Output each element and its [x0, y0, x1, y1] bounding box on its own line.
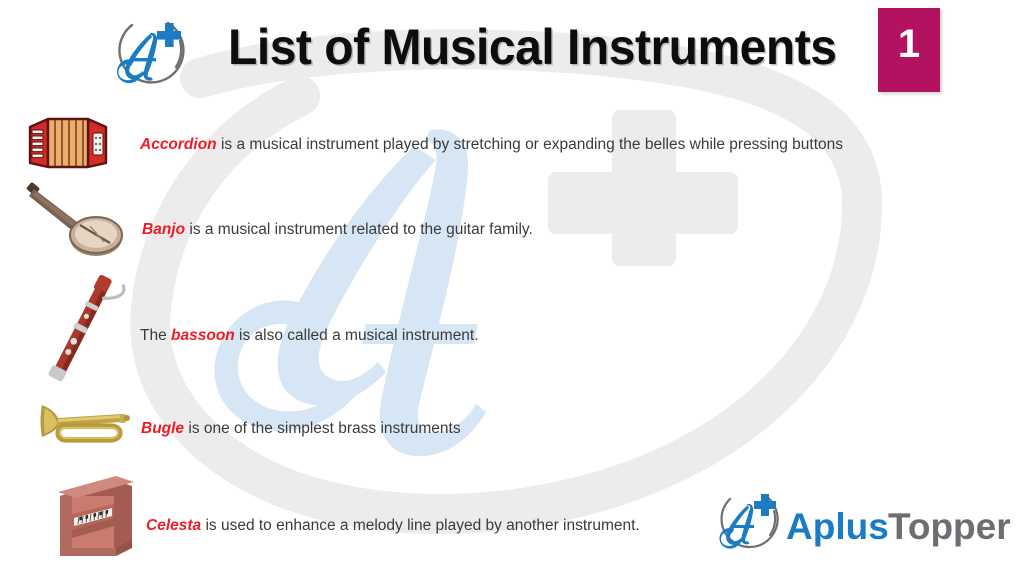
- bassoon-icon: [36, 265, 126, 389]
- row-keyword-banjo: Banjo: [142, 221, 185, 238]
- page-title: List of Musical Instruments: [228, 14, 823, 84]
- page-number-badge: 1: [878, 8, 940, 92]
- row-keyword-accordion: Accordion: [140, 136, 217, 153]
- row-text-bugle: Bugle is one of the simplest brass instr…: [141, 418, 461, 440]
- row-keyword-bugle: Bugle: [141, 420, 184, 437]
- row-text-accordion: Accordion is a musical instrument played…: [140, 134, 843, 156]
- footer-brand-first: Aplus: [786, 506, 889, 547]
- banjo-icon: [24, 180, 128, 260]
- celesta-icon: [42, 474, 138, 562]
- row-suffix-bassoon: is also called a musical instrument.: [235, 327, 479, 344]
- row-text-celesta: Celesta is used to enhance a melody line…: [146, 515, 640, 537]
- accordion-icon: [22, 113, 114, 177]
- row-keyword-celesta: Celesta: [146, 517, 201, 534]
- bugle-icon: [36, 399, 134, 449]
- row-suffix-accordion: is a musical instrument played by stretc…: [217, 136, 843, 153]
- footer-logo: Aplus Topper: [716, 489, 1012, 555]
- footer-brand-second: Topper: [888, 506, 1011, 547]
- row-suffix-bugle: is one of the simplest brass instruments: [184, 420, 461, 437]
- row-suffix-celesta: is used to enhance a melody line played …: [201, 517, 640, 534]
- row-suffix-banjo: is a musical instrument related to the g…: [185, 221, 533, 238]
- row-keyword-bassoon: bassoon: [171, 327, 235, 344]
- header-logo: [106, 11, 194, 93]
- slide-canvas: List of Musical Instruments 1: [0, 0, 1024, 571]
- page-number-value: 1: [878, 21, 940, 67]
- row-text-banjo: Banjo is a musical instrument related to…: [142, 219, 533, 241]
- row-text-bassoon: The bassoon is also called a musical ins…: [140, 325, 479, 347]
- row-prefix-bassoon: The: [140, 327, 171, 344]
